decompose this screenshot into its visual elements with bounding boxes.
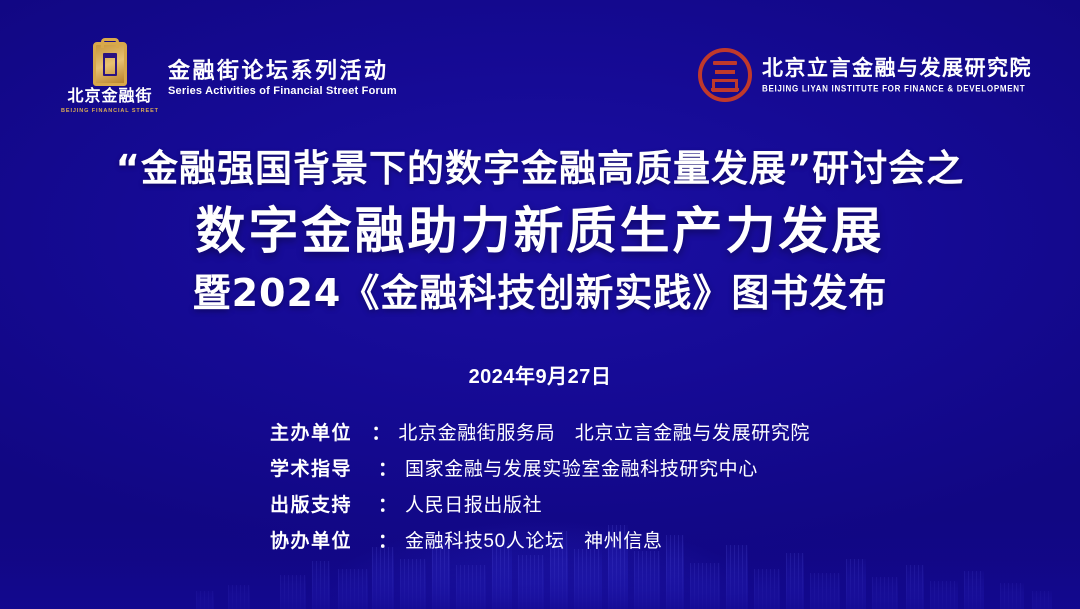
logo-beijing-financial-street: 北京金融街 BEIJING FINANCIAL STREET 金融街论坛系列活动… xyxy=(62,42,397,114)
financial-street-mark: 北京金融街 BEIJING FINANCIAL STREET xyxy=(62,42,158,114)
organizer-colon: ： xyxy=(378,490,397,517)
title-line-2: 数字金融助力新质生产力发展 xyxy=(0,198,1080,263)
title-line-3: 暨2024《金融科技创新实践》图书发布 xyxy=(0,269,1080,318)
organizer-label: 学术指导 xyxy=(270,454,378,481)
event-date: 2024年9月27日 xyxy=(0,360,1080,389)
organizer-value: 人民日报出版社 xyxy=(405,490,542,517)
forum-title-cn: 金融街论坛系列活动 xyxy=(168,58,397,83)
organizer-colon: ： xyxy=(371,418,390,445)
institute-title-cn: 北京立言金融与发展研究院 xyxy=(762,57,1032,81)
organizer-label: 主办单位 xyxy=(270,418,371,445)
organizer-colon: ： xyxy=(378,454,397,481)
logo-liyan-institute: 北京立言金融与发展研究院 BEIJING LIYAN INSTITUTE FOR… xyxy=(698,48,1032,102)
organizer-value: 国家金融与发展实验室金融科技研究中心 xyxy=(405,454,758,481)
organizer-value: 金融科技50人论坛 神州信息 xyxy=(405,526,663,553)
liyan-institute-seal-icon xyxy=(698,48,752,102)
organizer-row: 协办单位 ： 金融科技50人论坛 神州信息 xyxy=(270,526,810,553)
organizer-colon: ： xyxy=(378,526,397,553)
organizer-row: 学术指导 ： 国家金融与发展实验室金融科技研究中心 xyxy=(270,454,810,481)
title-line-1: “金融强国背景下的数字金融高质量发展”研讨会之 xyxy=(0,146,1080,192)
financial-street-mark-cn: 北京金融街 xyxy=(67,88,152,106)
poster-title-block: “金融强国背景下的数字金融高质量发展”研讨会之 数字金融助力新质生产力发展 暨2… xyxy=(0,146,1080,319)
financial-street-mark-en: BEIJING FINANCIAL STREET xyxy=(61,107,159,113)
financial-street-forum-text: 金融街论坛系列活动 Series Activities of Financial… xyxy=(168,58,397,97)
organizer-list: 主办单位 ： 北京金融街服务局 北京立言金融与发展研究院 学术指导 ： 国家金融… xyxy=(0,418,1080,553)
institute-title-en: BEIJING LIYAN INSTITUTE FOR FINANCE & DE… xyxy=(762,83,1032,93)
organizer-label: 出版支持 xyxy=(270,490,378,517)
poster-header: 北京金融街 BEIJING FINANCIAL STREET 金融街论坛系列活动… xyxy=(0,0,1080,132)
organizer-row: 主办单位 ： 北京金融街服务局 北京立言金融与发展研究院 xyxy=(270,418,810,445)
organizer-label: 协办单位 xyxy=(270,526,378,553)
forum-title-en: Series Activities of Financial Street Fo… xyxy=(168,85,397,97)
organizer-row: 出版支持 ： 人民日报出版社 xyxy=(270,490,810,517)
organizer-value: 北京金融街服务局 北京立言金融与发展研究院 xyxy=(398,418,810,445)
liyan-institute-text: 北京立言金融与发展研究院 BEIJING LIYAN INSTITUTE FOR… xyxy=(762,57,1032,92)
financial-street-seal-icon xyxy=(93,42,127,86)
event-poster: 北京金融街 BEIJING FINANCIAL STREET 金融街论坛系列活动… xyxy=(0,0,1080,609)
